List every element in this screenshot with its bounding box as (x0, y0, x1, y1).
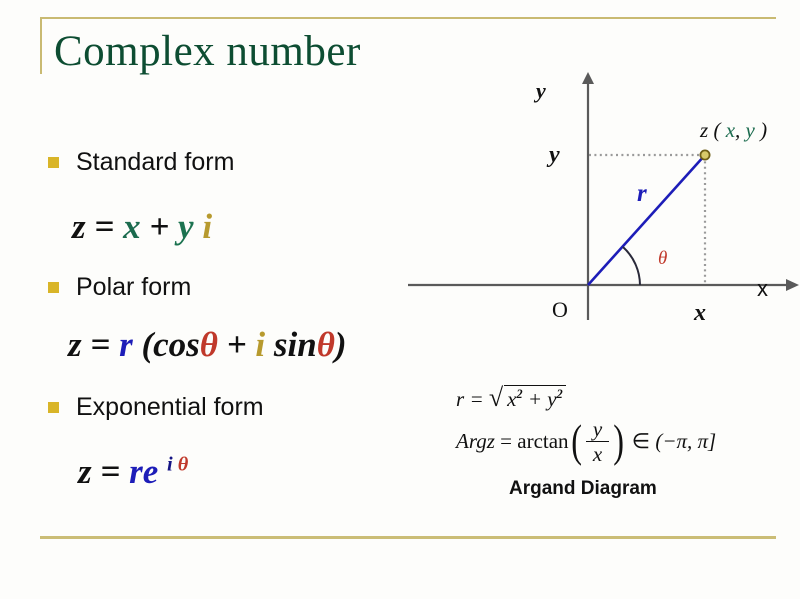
x-axis-label: x (757, 276, 768, 302)
modulus-y-exponent: 2 (557, 387, 563, 401)
bullet-square-icon (48, 402, 59, 413)
argument-interval: (−π, π] (655, 429, 716, 454)
point-label: z ( x, y ) (700, 118, 767, 143)
modulus-y: y (547, 387, 556, 411)
top-rule (40, 17, 776, 19)
formula-z: z (68, 325, 82, 364)
point-label-z: z (700, 118, 708, 142)
modulus-lhs: r (456, 387, 464, 411)
y-axis-label: y (536, 78, 546, 104)
point-marker (700, 150, 709, 159)
formula-exponential-form: z = re i θ (78, 452, 188, 492)
formula-superscript-theta: θ (178, 453, 189, 475)
argument-denominator: x (586, 442, 609, 465)
right-paren-icon: ) (614, 425, 625, 457)
bullet-label: Exponential form (76, 393, 264, 422)
formula-plus: + (149, 207, 169, 246)
formula-modulus: r = √x2 + y2 (456, 385, 566, 412)
y-value-label: y (549, 142, 560, 169)
bullet-square-icon (48, 282, 59, 293)
formula-equals: = (90, 325, 110, 364)
argument-function: arctan (517, 429, 568, 454)
formula-argument: Argz = arctan(yx) ∈ (−π, π] (456, 418, 716, 465)
y-axis-arrow (582, 72, 594, 84)
theta-arc (623, 247, 640, 285)
formula-close-paren: ) (335, 325, 347, 364)
formula-plus: + (227, 325, 247, 364)
argument-fraction: yx (586, 418, 609, 465)
origin-label: O (552, 297, 568, 323)
formula-r: r (119, 325, 133, 364)
bottom-rule (40, 536, 776, 539)
point-label-close-paren: ) (760, 118, 767, 142)
argument-arg: Arg (456, 429, 487, 454)
argument-member-symbol: ∈ (632, 429, 650, 454)
point-label-x: x (726, 118, 735, 142)
formula-z: z (72, 207, 86, 246)
theta-label: θ (658, 248, 667, 270)
modulus-equals: = (469, 387, 483, 411)
bullet-label: Polar form (76, 273, 191, 302)
formula-cos: (cos (141, 325, 199, 364)
formula-theta-sin: θ (317, 325, 335, 364)
argument-z: z (487, 429, 495, 454)
modulus-plus: + (528, 387, 542, 411)
left-rule (40, 17, 42, 74)
argument-equals: = (500, 429, 512, 454)
bullet-item-standard-form: Standard form (48, 148, 234, 177)
formula-i: i (255, 325, 265, 364)
formula-polar-form: z = r (cosθ + i sinθ) (68, 325, 347, 365)
x-axis-arrow (786, 279, 799, 291)
point-label-y: y (746, 118, 755, 142)
radical-icon: √ (489, 385, 503, 411)
bullet-item-exponential-form: Exponential form (48, 393, 264, 422)
bullet-label: Standard form (76, 148, 234, 177)
formula-equals: = (94, 207, 114, 246)
left-paren-icon: ( (571, 425, 582, 457)
formula-x: x (123, 207, 141, 246)
formula-re: re (129, 452, 158, 491)
radius-vector (588, 155, 705, 285)
formula-equals: = (100, 452, 120, 491)
formula-i: i (202, 207, 212, 246)
radius-label: r (637, 180, 647, 208)
bullet-square-icon (48, 157, 59, 168)
x-value-label: x (694, 300, 706, 327)
formula-standard-form: z = x + y i (72, 207, 212, 247)
page-title: Complex number (54, 26, 361, 78)
bullet-item-polar-form: Polar form (48, 273, 191, 302)
argand-diagram (408, 70, 800, 320)
slide-canvas: Complex number Standard form z = x + y i… (0, 0, 800, 599)
formula-z: z (78, 452, 92, 491)
formula-sin: sin (274, 325, 317, 364)
formula-theta-cos: θ (200, 325, 218, 364)
argand-caption: Argand Diagram (509, 478, 657, 500)
argument-numerator: y (586, 418, 609, 442)
formula-y: y (178, 207, 194, 246)
